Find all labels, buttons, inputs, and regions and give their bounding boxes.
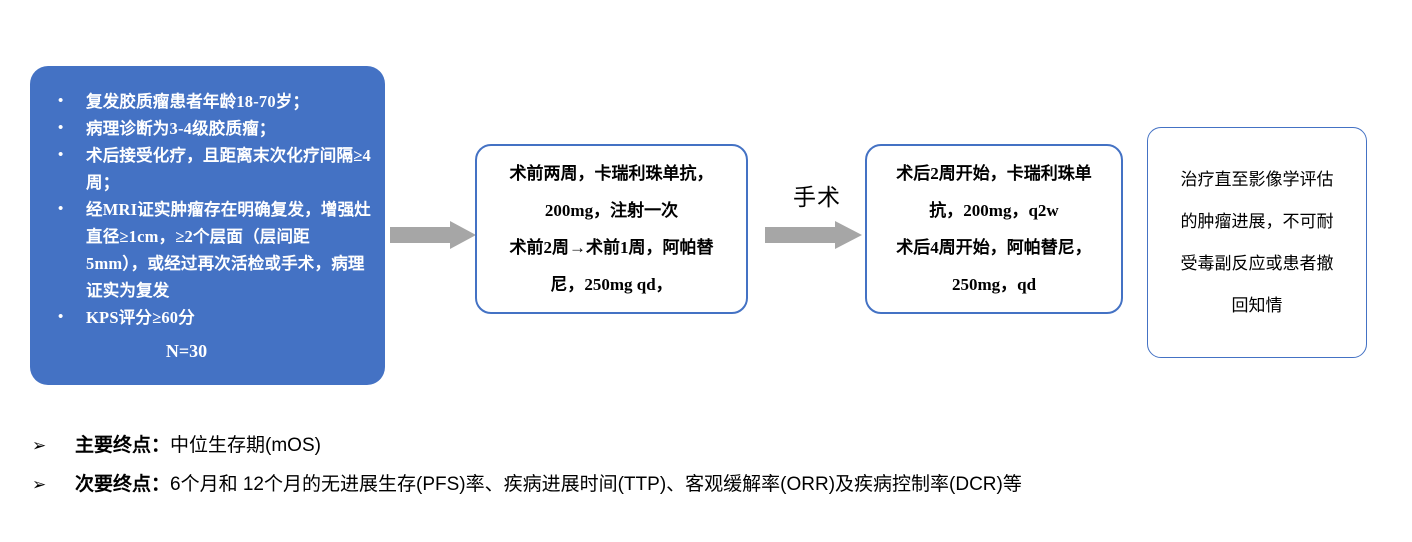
list-item: • KPS评分≥60分 [44,304,371,331]
text-line: 200mg，注射一次 [485,192,738,229]
primary-endpoint-row: ➢ 主要终点：中位生存期(mOS) [28,432,1388,460]
enrollment-count: N=30 [44,341,371,362]
arrow-bullet-icon: ➢ [32,471,46,499]
postoperative-treatment-box: 术后2周开始，卡瑞利珠单 抗，200mg，q2w 术后4周开始，阿帕替尼， 25… [865,144,1123,314]
bullet-icon: • [58,88,63,115]
eligibility-criteria-list: • 复发胶质瘤患者年龄18-70岁； • 病理诊断为3-4级胶质瘤； • 术后接… [44,88,371,331]
text-line: 的肿瘤进展，不可耐 [1156,201,1358,243]
primary-endpoint-value: 中位生存期(mOS) [170,435,321,456]
criterion-text: 病理诊断为3-4级胶质瘤； [86,115,371,142]
preoperative-treatment-text: 术前两周，卡瑞利珠单抗， 200mg，注射一次 术前2周→术前1周，阿帕替 尼，… [477,155,746,303]
text-line: 尼，250mg qd， [485,266,738,303]
treatment-duration-text: 治疗直至影像学评估 的肿瘤进展，不可耐 受毒副反应或患者撤 回知情 [1148,159,1366,327]
text-line: 250mg，qd [875,266,1113,303]
list-item: • 经MRI证实肿瘤存在明确复发，增强灶直径≥1cm，≥2个层面（层间距5mm）… [44,196,371,304]
treatment-duration-box: 治疗直至影像学评估 的肿瘤进展，不可耐 受毒副反应或患者撤 回知情 [1147,127,1367,358]
bullet-icon: • [58,196,63,223]
text-line: 术后4周开始，阿帕替尼， [875,229,1113,266]
text-line: 治疗直至影像学评估 [1156,159,1358,201]
list-item: • 术后接受化疗，且距离末次化疗间隔≥4周； [44,142,371,196]
secondary-endpoint-value: 6个月和 12个月的无进展生存(PFS)率、疾病进展时间(TTP)、客观缓解率(… [170,474,1022,495]
criterion-text: 复发胶质瘤患者年龄18-70岁； [86,88,371,115]
text-line: 术前两周，卡瑞利珠单抗， [485,155,738,192]
bullet-icon: • [58,115,63,142]
criterion-text: 经MRI证实肿瘤存在明确复发，增强灶直径≥1cm，≥2个层面（层间距5mm），或… [86,196,371,304]
text-line: 受毒副反应或患者撤 [1156,243,1358,285]
primary-endpoint-label: 主要终点： [75,435,170,456]
text-line: 术后2周开始，卡瑞利珠单 [875,155,1113,192]
criterion-text: KPS评分≥60分 [86,304,371,331]
eligibility-criteria-box: • 复发胶质瘤患者年龄18-70岁； • 病理诊断为3-4级胶质瘤； • 术后接… [30,66,385,385]
list-item: • 复发胶质瘤患者年龄18-70岁； [44,88,371,115]
preoperative-treatment-box: 术前两周，卡瑞利珠单抗， 200mg，注射一次 术前2周→术前1周，阿帕替 尼，… [475,144,748,314]
study-design-flowchart: • 复发胶质瘤患者年龄18-70岁； • 病理诊断为3-4级胶质瘤； • 术后接… [0,0,1412,542]
surgery-label: 手术 [772,182,862,212]
bullet-icon: • [58,304,63,331]
text-line: 回知情 [1156,285,1358,327]
secondary-endpoint-label: 次要终点： [75,474,170,495]
right-arrow-icon [765,221,862,249]
criterion-text: 术后接受化疗，且距离末次化疗间隔≥4周； [86,142,371,196]
right-arrow-icon [390,221,476,249]
postoperative-treatment-text: 术后2周开始，卡瑞利珠单 抗，200mg，q2w 术后4周开始，阿帕替尼， 25… [867,155,1121,303]
text-line: 术前2周→术前1周，阿帕替 [485,229,738,266]
bullet-icon: • [58,142,63,169]
endpoints-section: ➢ 主要终点：中位生存期(mOS) ➢ 次要终点：6个月和 12个月的无进展生存… [28,432,1388,510]
list-item: • 病理诊断为3-4级胶质瘤； [44,115,371,142]
text-line: 抗，200mg，q2w [875,192,1113,229]
secondary-endpoint-row: ➢ 次要终点：6个月和 12个月的无进展生存(PFS)率、疾病进展时间(TTP)… [28,471,1388,499]
arrow-bullet-icon: ➢ [32,432,46,460]
